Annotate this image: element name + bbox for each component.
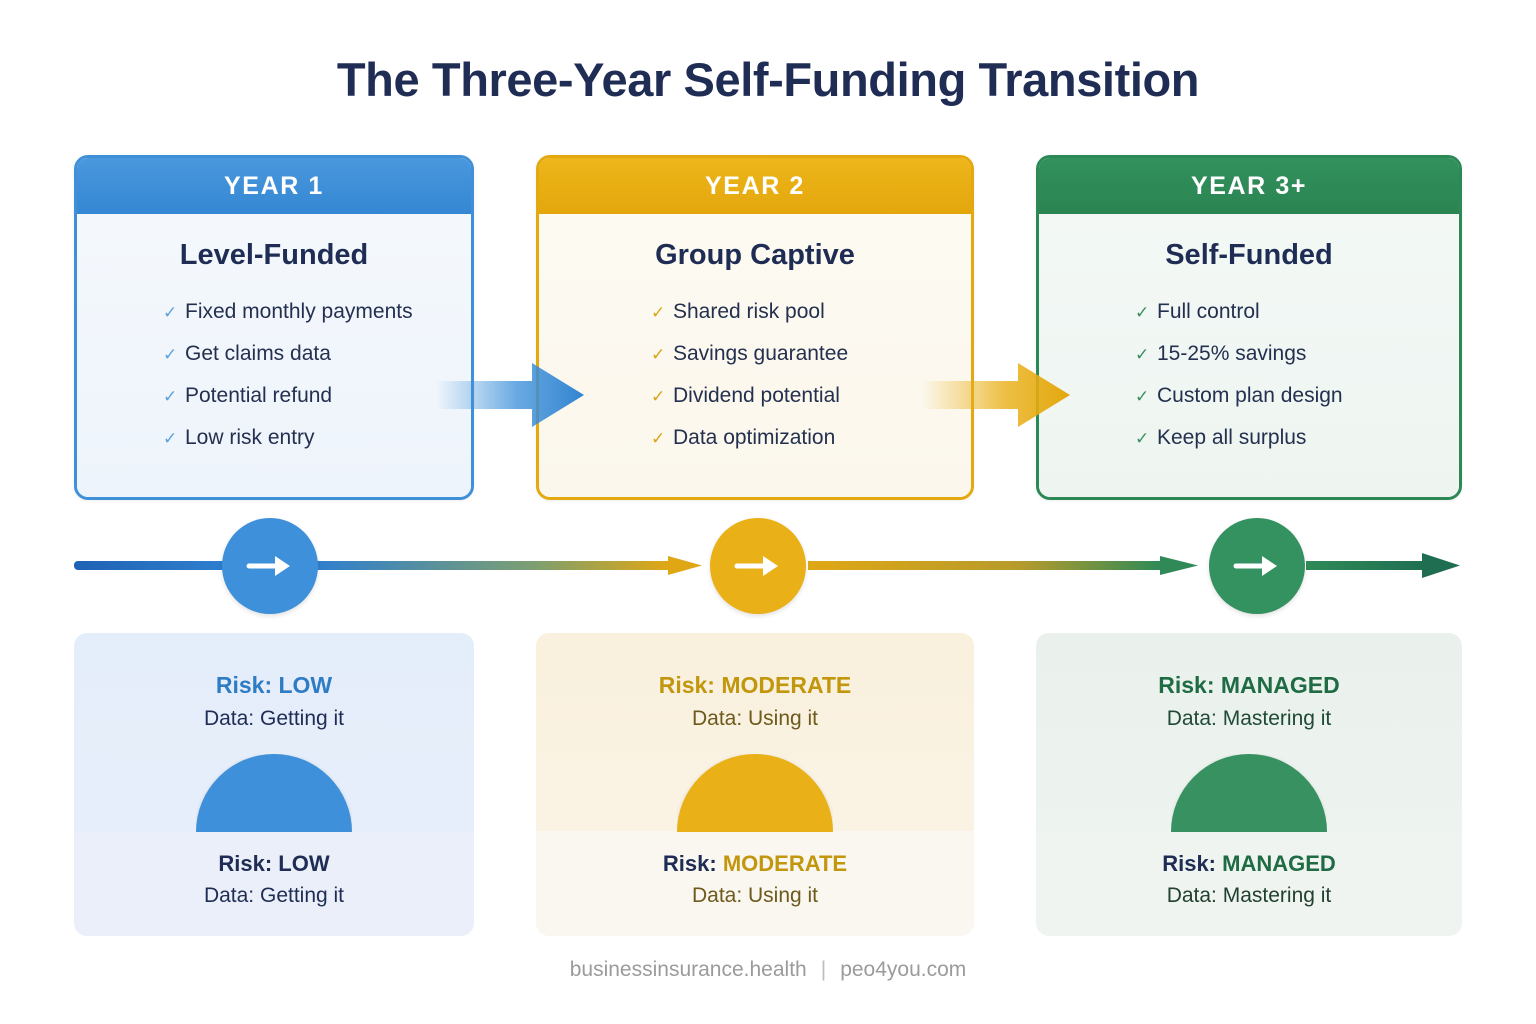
risk-label-top: Risk: MANAGED	[1036, 672, 1462, 699]
stage-card-year-2[interactable]: YEAR 2 Group Captive ✓Shared risk pool ✓…	[536, 155, 974, 500]
check-icon: ✓	[651, 388, 673, 407]
list-item: ✓Potential refund	[163, 384, 471, 407]
risk-gauge-label: MODERATE	[677, 754, 833, 832]
risk-label-value: MANAGED	[1222, 851, 1336, 876]
check-icon: ✓	[1135, 388, 1157, 407]
risk-gauge-label: LOW	[196, 754, 352, 832]
check-icon: ✓	[651, 304, 673, 323]
stage-title-year-1: Level-Funded	[77, 239, 471, 272]
stage-body-year-2: Group Captive ✓Shared risk pool ✓Savings…	[539, 214, 971, 497]
list-item: ✓Fixed monthly payments	[163, 300, 471, 323]
list-item: ✓Keep all surplus	[1135, 426, 1459, 449]
risk-gauge-label: MANAGED	[1171, 754, 1327, 832]
stage-header-year-2: YEAR 2	[539, 158, 971, 214]
progress-timeline	[74, 518, 1462, 616]
risk-card-year-3-plus[interactable]: Risk: MANAGED Data: Mastering it Risk: M…	[1036, 633, 1462, 936]
infographic-canvas: The Three-Year Self-Funding Transition Y…	[0, 0, 1536, 1024]
list-item: ✓Get claims data	[163, 342, 471, 365]
stage-feature-list-year-1: ✓Fixed monthly payments ✓Get claims data…	[77, 300, 471, 449]
risk-card-lower-year-1: Risk: LOW Data: Getting it	[74, 831, 474, 936]
list-item-label: Get claims data	[185, 342, 331, 365]
check-icon: ✓	[1135, 346, 1157, 365]
list-item-label: Full control	[1157, 300, 1260, 323]
check-icon: ✓	[163, 388, 185, 407]
timeline-node-year-1[interactable]	[222, 518, 318, 614]
list-item-label: Potential refund	[185, 384, 332, 407]
data-label-top: Data: Getting it	[74, 707, 474, 731]
risk-card-year-1[interactable]: Risk: LOW Data: Getting it Risk: LOW Dat…	[74, 633, 474, 936]
page-title: The Three-Year Self-Funding Transition	[0, 52, 1536, 107]
list-item-label: 15-25% savings	[1157, 342, 1306, 365]
risk-label-bottom: Risk: MODERATE	[536, 851, 974, 877]
check-icon: ✓	[163, 346, 185, 365]
list-item-label: Keep all surplus	[1157, 426, 1306, 449]
list-item-label: Fixed monthly payments	[185, 300, 413, 323]
risk-gauge-year-3-plus: MANAGED	[1171, 754, 1327, 832]
list-item: ✓Data optimization	[651, 426, 971, 449]
risk-label-value: LOW	[278, 851, 329, 876]
list-item-label: Shared risk pool	[673, 300, 825, 323]
list-item: ✓Dividend potential	[651, 384, 971, 407]
check-icon: ✓	[651, 346, 673, 365]
risk-label-top: Risk: LOW	[74, 672, 474, 699]
list-item: ✓15-25% savings	[1135, 342, 1459, 365]
stage-card-year-3-plus[interactable]: YEAR 3+ Self-Funded ✓Full control ✓15-25…	[1036, 155, 1462, 500]
list-item-label: Custom plan design	[1157, 384, 1343, 407]
stage-body-year-1: Level-Funded ✓Fixed monthly payments ✓Ge…	[77, 214, 471, 497]
data-label-bottom: Data: Getting it	[74, 884, 474, 908]
data-label-top: Data: Using it	[536, 707, 974, 731]
arrow-right-icon	[733, 549, 783, 583]
risk-label-bottom: Risk: MANAGED	[1036, 851, 1462, 877]
stage-feature-list-year-2: ✓Shared risk pool ✓Savings guarantee ✓Di…	[539, 300, 971, 449]
stage-cards-row: YEAR 1 Level-Funded ✓Fixed monthly payme…	[74, 155, 1462, 500]
check-icon: ✓	[163, 430, 185, 449]
stage-feature-list-year-3-plus: ✓Full control ✓15-25% savings ✓Custom pl…	[1039, 300, 1459, 449]
list-item: ✓Savings guarantee	[651, 342, 971, 365]
list-item-label: Low risk entry	[185, 426, 315, 449]
list-item-label: Dividend potential	[673, 384, 840, 407]
risk-card-lower-year-2: Risk: MODERATE Data: Using it	[536, 831, 974, 936]
timeline-node-year-3-plus[interactable]	[1209, 518, 1305, 614]
check-icon: ✓	[163, 304, 185, 323]
arrow-right-icon	[245, 549, 295, 583]
check-icon: ✓	[1135, 430, 1157, 449]
list-item: ✓Low risk entry	[163, 426, 471, 449]
risk-cards-row: Risk: LOW Data: Getting it Risk: LOW Dat…	[74, 633, 1462, 936]
risk-gauge-year-2: MODERATE	[677, 754, 833, 832]
list-item-label: Savings guarantee	[673, 342, 848, 365]
stage-body-year-3-plus: Self-Funded ✓Full control ✓15-25% saving…	[1039, 214, 1459, 497]
stage-title-year-2: Group Captive	[539, 239, 971, 272]
list-item: ✓Custom plan design	[1135, 384, 1459, 407]
footer: businessinsurance.health|peo4you.com	[0, 958, 1536, 982]
list-item: ✓Full control	[1135, 300, 1459, 323]
check-icon: ✓	[1135, 304, 1157, 323]
stage-header-year-3-plus: YEAR 3+	[1039, 158, 1459, 214]
stage-card-year-1[interactable]: YEAR 1 Level-Funded ✓Fixed monthly payme…	[74, 155, 474, 500]
risk-label-top: Risk: MODERATE	[536, 672, 974, 699]
risk-label-prefix: Risk:	[663, 851, 723, 876]
risk-card-year-2[interactable]: Risk: MODERATE Data: Using it Risk: MODE…	[536, 633, 974, 936]
risk-label-value: MODERATE	[723, 851, 847, 876]
data-label-bottom: Data: Mastering it	[1036, 884, 1462, 908]
footer-link-secondary[interactable]: peo4you.com	[840, 958, 966, 981]
arrow-right-icon	[1232, 549, 1282, 583]
footer-separator: |	[821, 958, 826, 981]
footer-link-primary[interactable]: businessinsurance.health	[570, 958, 807, 981]
list-item-label: Data optimization	[673, 426, 835, 449]
risk-label-bottom: Risk: LOW	[74, 851, 474, 877]
list-item: ✓Shared risk pool	[651, 300, 971, 323]
stage-header-year-1: YEAR 1	[77, 158, 471, 214]
timeline-node-year-2[interactable]	[710, 518, 806, 614]
data-label-bottom: Data: Using it	[536, 884, 974, 908]
data-label-top: Data: Mastering it	[1036, 707, 1462, 731]
risk-label-prefix: Risk:	[218, 851, 278, 876]
check-icon: ✓	[651, 430, 673, 449]
risk-gauge-year-1: LOW	[196, 754, 352, 832]
stage-title-year-3-plus: Self-Funded	[1039, 239, 1459, 272]
risk-label-prefix: Risk:	[1162, 851, 1222, 876]
risk-card-lower-year-3-plus: Risk: MANAGED Data: Mastering it	[1036, 831, 1462, 936]
